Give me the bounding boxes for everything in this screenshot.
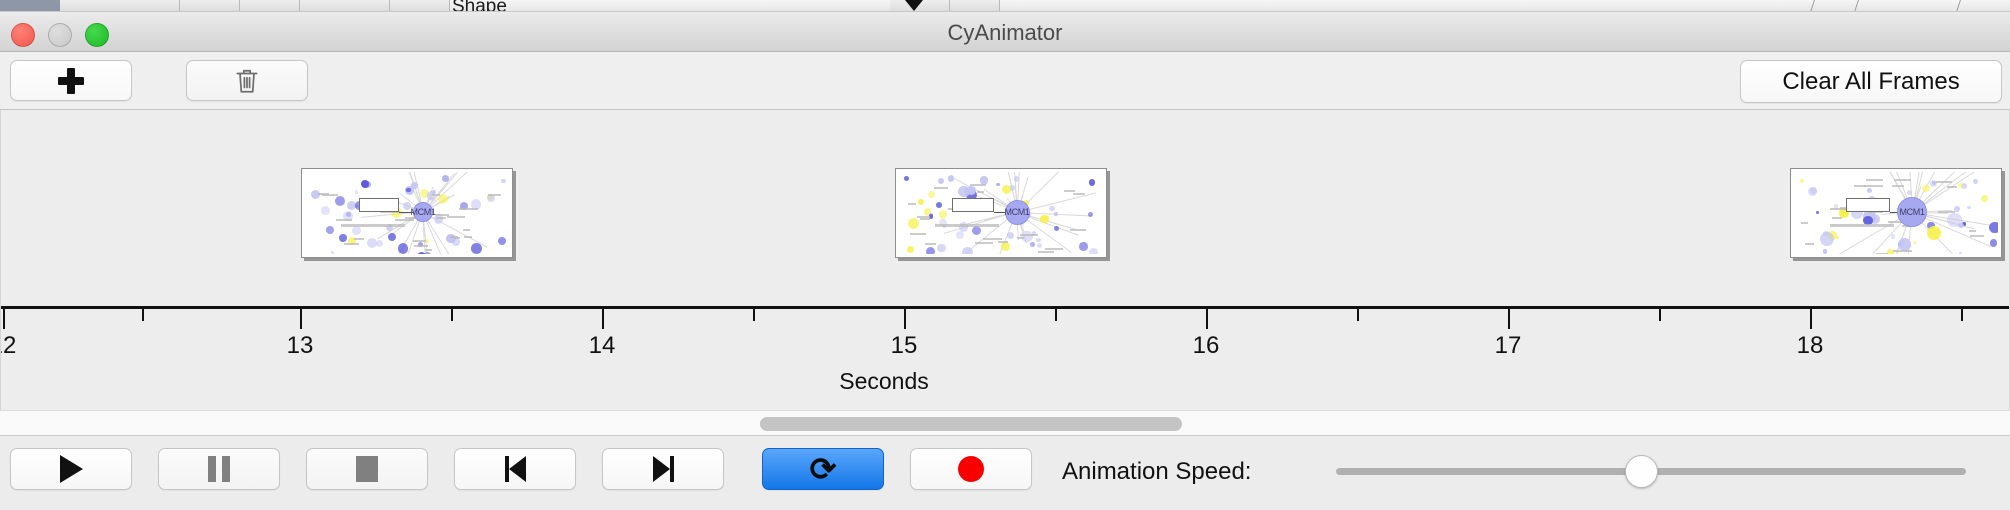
stop-button[interactable]	[306, 448, 428, 490]
graph-node	[1898, 238, 1910, 250]
playback-bar: ⟳ Animation Speed:	[0, 437, 2010, 510]
skip-to-end-button[interactable]	[602, 448, 724, 490]
graph-node-label	[998, 241, 1008, 243]
graph-node-label	[322, 194, 339, 196]
graph-node	[403, 202, 411, 210]
graph-node-label	[432, 194, 440, 196]
graph-node-label	[414, 245, 428, 247]
skip-to-end-icon	[653, 456, 674, 482]
axis-tick-label: 13	[287, 332, 314, 360]
graph-node-label	[925, 243, 936, 245]
graph-node	[411, 182, 418, 189]
keyframe-thumbnail[interactable]: MCM1	[1790, 168, 2002, 258]
animation-speed-slider-thumb[interactable]	[1625, 455, 1658, 488]
graph-node	[1037, 243, 1042, 248]
background-window-block	[950, 0, 1000, 12]
graph-node	[388, 233, 396, 241]
timeline-axis	[1, 306, 2010, 309]
axis-tick-minor	[1357, 309, 1359, 321]
graph-node	[972, 226, 981, 235]
graph-node	[1989, 222, 1998, 234]
graph-node-label	[1894, 179, 1910, 181]
graph-node	[1816, 211, 1819, 214]
graph-node-label	[910, 233, 926, 235]
graph-node	[398, 243, 409, 254]
graph-node	[928, 191, 935, 198]
graph-node	[1810, 187, 1817, 194]
graph-node	[501, 179, 505, 183]
graph-node	[1913, 241, 1916, 244]
axis-tick-minor	[1659, 309, 1661, 321]
graph-node	[904, 176, 909, 181]
graph-node-label	[1805, 243, 1814, 245]
graph-node	[1823, 231, 1829, 237]
add-frame-button[interactable]	[10, 60, 132, 101]
axis-tick-minor	[142, 309, 144, 321]
graph-node-label	[917, 216, 931, 218]
keyframe-thumbnail[interactable]: MCM1	[895, 168, 1107, 258]
graph-node	[1089, 248, 1099, 254]
graph-node-label	[1938, 211, 1955, 213]
graph-node	[1867, 188, 1872, 193]
graph-node-label	[1866, 179, 1883, 181]
plus-icon	[58, 68, 84, 94]
graph-node	[339, 234, 346, 241]
graph-caption-text	[1830, 224, 1894, 227]
graph-node	[1036, 238, 1041, 243]
graph-node	[326, 226, 334, 234]
graph-node-label	[920, 218, 930, 220]
axis-title: Seconds	[1, 368, 2010, 395]
graph-hub-node: MCM1	[1005, 200, 1030, 225]
graph-node-label	[453, 237, 459, 239]
graph-node-label	[1864, 185, 1882, 187]
graph-node-label	[1947, 186, 1957, 188]
timeline-scrollbar-thumb[interactable]	[760, 417, 1182, 431]
graph-node	[311, 190, 320, 199]
graph-node-label	[395, 219, 414, 221]
keyframe-network-graph: MCM1	[899, 172, 1103, 254]
graph-node	[1836, 236, 1839, 239]
graph-node-label	[1017, 237, 1024, 239]
graph-node	[1089, 179, 1096, 186]
graph-node-label	[1064, 190, 1075, 192]
axis-tick-label: 16	[1193, 332, 1220, 360]
graph-node-label	[970, 184, 986, 186]
graph-node-label	[1020, 234, 1038, 236]
graph-node	[1002, 185, 1011, 194]
skip-to-start-icon	[505, 456, 526, 482]
graph-node	[364, 181, 372, 189]
graph-node	[936, 202, 942, 208]
background-window-strip: Shape	[0, 0, 2010, 12]
keyframe-thumbnail[interactable]: MCM1	[301, 168, 513, 258]
axis-tick-major	[300, 309, 302, 329]
graph-annotation-callout	[359, 198, 399, 212]
axis-tick-minor	[1055, 309, 1057, 321]
graph-annotation-callout	[1846, 198, 1890, 212]
axis-tick-label: 14	[589, 332, 616, 360]
axis-tick-major	[1508, 309, 1510, 329]
background-window-block	[390, 0, 450, 12]
axis-tick-minor	[1961, 309, 1963, 321]
graph-node	[1007, 232, 1014, 239]
graph-node	[1922, 185, 1930, 193]
trash-icon	[234, 67, 260, 95]
graph-node-label	[1893, 250, 1912, 252]
graph-node-label	[934, 187, 947, 189]
graph-node	[996, 183, 999, 186]
graph-node-label	[1070, 229, 1086, 231]
background-window-divider	[1956, 0, 1961, 12]
graph-node	[1049, 206, 1055, 212]
graph-node	[1054, 212, 1057, 215]
graph-node-label	[1830, 208, 1845, 210]
animation-speed-label: Animation Speed:	[1062, 458, 1251, 486]
background-window-block	[180, 0, 240, 12]
graph-node	[1030, 242, 1035, 247]
delete-frame-button[interactable]	[186, 60, 308, 101]
graph-node-label	[975, 242, 993, 244]
graph-node	[1040, 215, 1048, 223]
graph-node	[939, 210, 948, 219]
play-icon	[60, 455, 83, 483]
graph-node	[355, 190, 359, 194]
axis-tick-major	[904, 309, 906, 329]
loop-button[interactable]: ⟳	[762, 448, 884, 490]
graph-node	[956, 231, 964, 239]
graph-node	[1947, 213, 1962, 228]
graph-node	[498, 237, 506, 245]
graph-node	[1079, 242, 1087, 250]
graph-node	[1001, 242, 1010, 251]
graph-node	[1891, 234, 1896, 239]
graph-node-label	[1970, 235, 1984, 237]
background-window-block	[240, 0, 300, 12]
axis-tick-minor	[753, 309, 755, 321]
graph-node	[937, 244, 945, 252]
graph-hub-node: MCM1	[413, 202, 433, 222]
keyframe-network-graph: MCM1	[305, 172, 509, 254]
graph-node-label	[459, 208, 477, 210]
cyanimator-window: Shape CyAnimator Clear All Frames 121314…	[0, 0, 2010, 510]
background-window-sidebar	[0, 0, 60, 12]
graph-node	[352, 226, 361, 235]
graph-node	[1800, 179, 1804, 183]
graph-node	[471, 243, 482, 254]
graph-node	[321, 206, 329, 214]
graph-node	[1054, 226, 1059, 231]
graph-node	[948, 175, 954, 181]
graph-node-label	[436, 217, 446, 219]
clear-all-frames-button[interactable]: Clear All Frames	[1740, 60, 2002, 103]
graph-node	[1973, 179, 1978, 184]
graph-node	[1967, 206, 1970, 209]
axis-tick-major	[602, 309, 604, 329]
graph-node	[962, 247, 973, 254]
graph-node-label	[436, 214, 450, 216]
graph-caption-text	[341, 224, 405, 227]
graph-node-label	[908, 203, 916, 205]
graph-node-label	[1892, 185, 1904, 187]
timeline-panel[interactable]: 12131415161718 MCM1MCM1MCM1 Seconds	[0, 110, 2010, 410]
graph-node	[1907, 190, 1912, 195]
graph-node-label	[1876, 253, 1888, 254]
axis-tick-minor	[451, 309, 453, 321]
background-window-block	[300, 0, 390, 12]
graph-node-label	[1073, 193, 1085, 195]
graph-caption-text	[935, 224, 999, 227]
graph-node-label	[1832, 217, 1843, 219]
graph-node-label	[464, 236, 472, 238]
graph-node	[1990, 239, 1997, 246]
graph-node-label	[1854, 185, 1866, 187]
background-window-divider	[1854, 0, 1859, 12]
graph-node-label	[488, 194, 501, 196]
skip-to-start-button[interactable]	[454, 448, 576, 490]
background-window-divider	[1810, 0, 1815, 12]
graph-node-label	[983, 238, 1001, 240]
graph-node-label	[413, 240, 426, 242]
graph-node	[1981, 195, 1988, 202]
play-button[interactable]	[10, 448, 132, 490]
window-title: CyAnimator	[0, 20, 2010, 46]
graph-node-label	[1969, 230, 1976, 232]
axis-tick-label: 12	[0, 332, 16, 360]
graph-node-label	[447, 216, 465, 218]
axis-tick-label: 15	[891, 332, 918, 360]
pause-button[interactable]	[158, 448, 280, 490]
graph-node-label	[344, 243, 358, 245]
loop-icon: ⟳	[810, 453, 837, 485]
graph-node	[1959, 252, 1962, 254]
axis-tick-major	[1810, 309, 1812, 329]
graph-node-label	[977, 191, 984, 193]
graph-node	[376, 240, 383, 247]
graph-node-label	[354, 238, 364, 240]
background-window-block	[60, 0, 180, 12]
graph-node	[918, 199, 924, 205]
toolbar: Clear All Frames	[0, 52, 2010, 110]
graph-node	[907, 246, 914, 253]
graph-node-label	[463, 229, 470, 231]
graph-node-label	[1038, 251, 1055, 253]
background-window-marker-icon	[905, 0, 923, 11]
axis-tick-major	[1206, 309, 1208, 329]
graph-node-label	[1936, 181, 1953, 183]
record-icon	[958, 456, 984, 482]
timeline-scrollbar[interactable]	[0, 410, 2010, 436]
title-bar[interactable]: CyAnimator	[0, 12, 2010, 52]
graph-node	[938, 178, 944, 184]
axis-tick-label: 18	[1797, 332, 1824, 360]
background-window-label: Shape	[452, 0, 507, 12]
graph-node	[926, 247, 935, 254]
graph-node	[335, 196, 345, 206]
axis-tick-major	[3, 309, 5, 329]
graph-node-label	[425, 249, 432, 251]
keyframe-network-graph: MCM1	[1794, 172, 1998, 254]
graph-node	[1823, 249, 1828, 254]
record-button[interactable]	[910, 448, 1032, 490]
graph-node-label	[1045, 248, 1063, 250]
graph-node-label	[1801, 222, 1808, 224]
pause-icon	[208, 456, 230, 482]
graph-node	[1014, 176, 1019, 181]
graph-node-label	[336, 219, 352, 221]
graph-node	[908, 218, 919, 229]
graph-node	[331, 251, 335, 254]
graph-node	[1088, 212, 1093, 217]
graph-annotation-callout	[952, 198, 994, 212]
axis-tick-label: 17	[1495, 332, 1522, 360]
stop-icon	[356, 456, 378, 482]
graph-hub-node: MCM1	[1897, 197, 1927, 227]
graph-node	[1927, 226, 1941, 240]
